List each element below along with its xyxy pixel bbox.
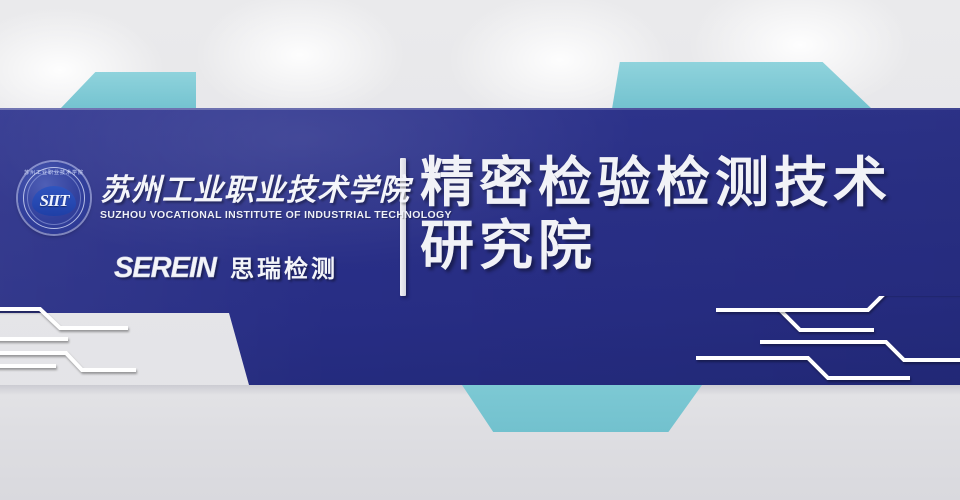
circuit-traces-right <box>660 296 960 386</box>
university-name-cn: 苏州工业职业技术学院 <box>100 175 452 206</box>
emblem-core: SIIT <box>32 186 76 216</box>
partner-brand-row: SEREIN 思瑞检测 <box>18 254 394 283</box>
partner-brand-en: SEREIN <box>114 254 216 283</box>
panel-top-highlight <box>0 108 960 110</box>
institute-title: 精密检验检测技术 研究院 <box>420 152 948 277</box>
signage-scene: 苏州工业职业技术学院 SIIT 苏州工业职业技术学院 SUZHOU VOCATI… <box>0 0 960 500</box>
emblem-arc-text: 苏州工业职业技术学院 <box>18 169 90 176</box>
emblem-monogram: SIIT <box>39 192 68 209</box>
teal-accent-top-right <box>612 62 872 109</box>
university-name-column: 苏州工业职业技术学院 SUZHOU VOCATIONAL INSTITUTE O… <box>100 175 452 220</box>
teal-accent-bottom-center <box>462 385 702 432</box>
university-logo-block: 苏州工业职业技术学院 SIIT 苏州工业职业技术学院 SUZHOU VOCATI… <box>18 162 394 283</box>
university-emblem-icon: 苏州工业职业技术学院 SIIT <box>18 162 90 234</box>
institute-title-line2: 研究院 <box>420 215 948 278</box>
logo-row: 苏州工业职业技术学院 SIIT 苏州工业职业技术学院 SUZHOU VOCATI… <box>18 162 394 234</box>
teal-accent-top-left <box>60 72 196 109</box>
partner-brand-cn: 思瑞检测 <box>230 257 338 281</box>
university-name-en: SUZHOU VOCATIONAL INSTITUTE OF INDUSTRIA… <box>100 209 452 221</box>
institute-title-line1: 精密检验检测技术 <box>420 152 948 215</box>
circuit-traces-left <box>0 296 300 386</box>
